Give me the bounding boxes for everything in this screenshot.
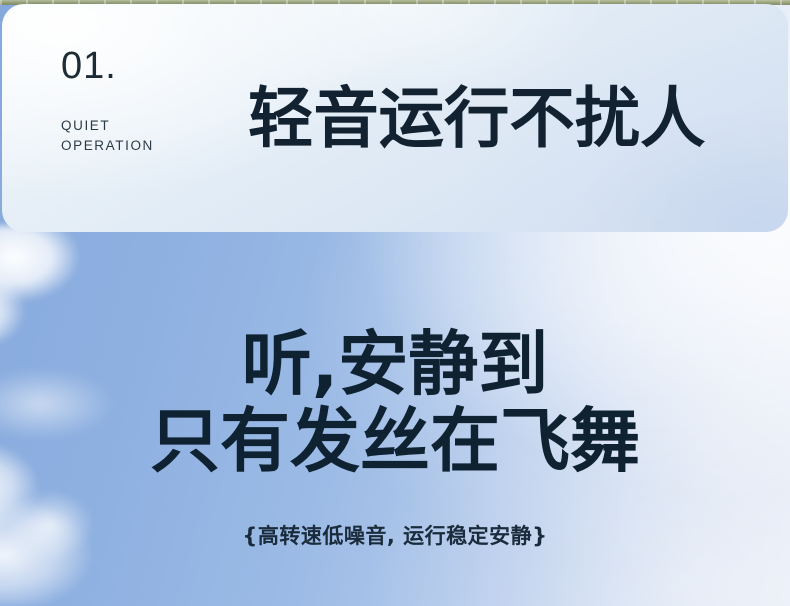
feature-headline: 轻音运行不扰人 bbox=[248, 86, 705, 152]
header-card-content: 01. QUIET OPERATION 轻音运行不扰人 bbox=[2, 4, 788, 232]
feature-index-number: 01. bbox=[61, 47, 231, 85]
hero-subtitle: {高转速低噪音, 运行稳定安静} bbox=[242, 526, 547, 547]
header-card: 01. QUIET OPERATION 轻音运行不扰人 bbox=[2, 4, 788, 232]
hero-line-2: 只有发丝在飞舞 bbox=[150, 406, 640, 477]
hero-copy-block: 听,安静到 只有发丝在飞舞 {高转速低噪音, 运行稳定安静} bbox=[0, 236, 790, 606]
hero-line-1: 听,安静到 bbox=[242, 329, 549, 400]
feature-index-label: QUIET OPERATION bbox=[61, 116, 231, 155]
feature-index-block: 01. QUIET OPERATION bbox=[61, 47, 231, 155]
feature-banner-page: 01. QUIET OPERATION 轻音运行不扰人 听,安静到 只有发丝在飞… bbox=[0, 0, 790, 606]
